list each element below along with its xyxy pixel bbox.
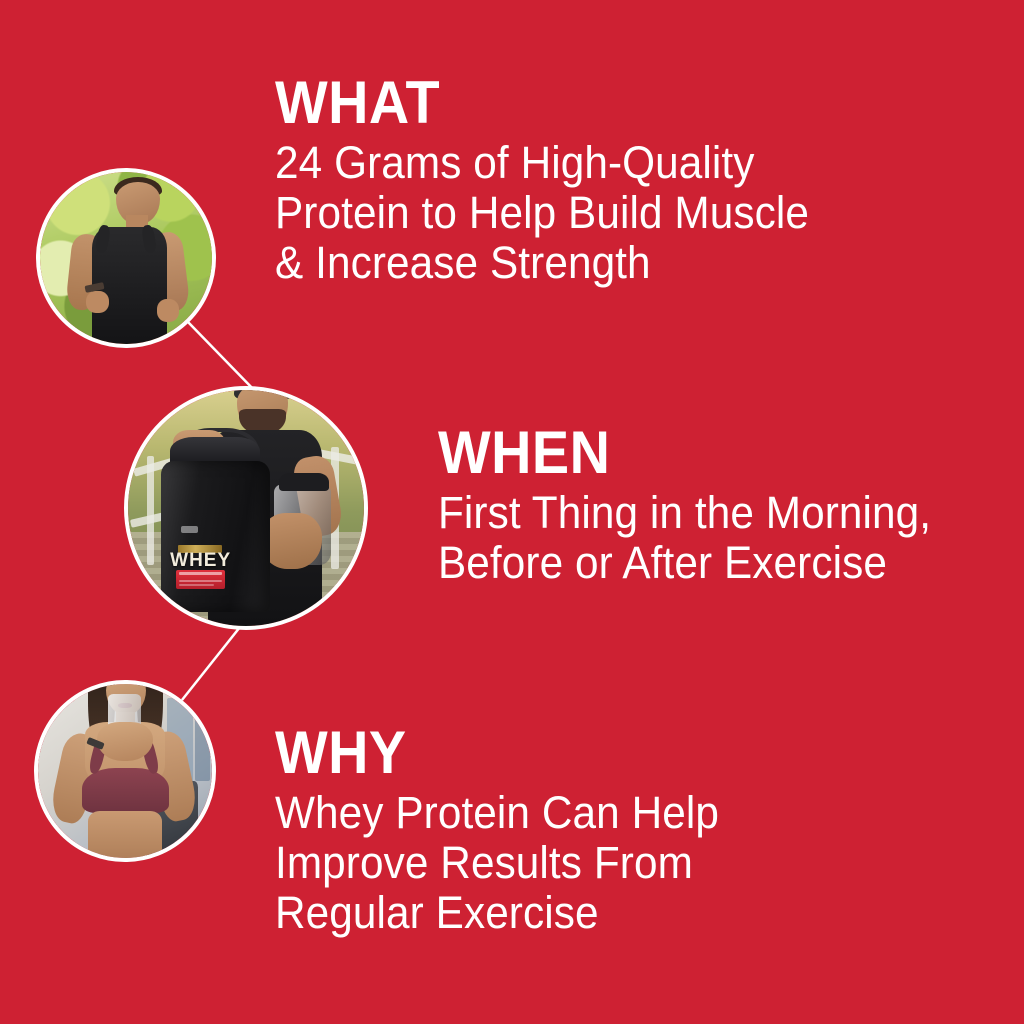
label-product-name: WHEY (177, 554, 224, 568)
male-runner-photo (40, 172, 212, 344)
section-what: WHAT 24 Grams of High-Quality Protein to… (275, 74, 843, 288)
athlete-midriff (88, 811, 161, 858)
whey-protein-tub: WHEY (161, 461, 270, 612)
section-when: WHEN First Thing in the Morning, Before … (438, 424, 963, 588)
section-why-line-3: Regular Exercise (275, 888, 719, 938)
section-when-line-2: Before or After Exercise (438, 538, 931, 588)
runner-right-fist (157, 299, 179, 321)
section-why-line-1: Whey Protein Can Help (275, 788, 719, 838)
brand-logo-mark (181, 526, 198, 534)
section-what-heading: WHAT (275, 74, 803, 132)
label-red-band (176, 570, 225, 590)
section-what-line-2: Protein to Help Build Muscle (275, 188, 809, 238)
photo-circle-male-runner (36, 168, 216, 348)
hands-holding-shaker (97, 722, 153, 760)
section-when-line-1: First Thing in the Morning, (438, 488, 931, 538)
infographic-poster: WHEY (0, 0, 1024, 1024)
section-what-line-1: 24 Grams of High-Quality (275, 138, 809, 188)
photo-circle-female-athlete (34, 680, 216, 862)
section-why-line-2: Improve Results From (275, 838, 719, 888)
runner-left-fist (86, 291, 108, 313)
rail-post-left (147, 456, 155, 565)
shaker-bottle-lid (279, 473, 329, 492)
sports-bra (82, 768, 169, 813)
label-band-text-line-1 (179, 572, 222, 575)
photo-circle-whey-product: WHEY (124, 386, 368, 630)
female-athlete-photo (38, 684, 212, 858)
whey-product-photo: WHEY (128, 390, 364, 626)
section-why: WHY Whey Protein Can Help Improve Result… (275, 724, 747, 938)
section-why-heading: WHY (275, 724, 714, 782)
label-band-text-line-3 (179, 584, 214, 586)
gym-window-right (195, 708, 211, 781)
label-band-text-line-2 (179, 580, 222, 582)
section-when-heading: WHEN (438, 424, 926, 482)
section-what-line-3: & Increase Strength (275, 238, 809, 288)
